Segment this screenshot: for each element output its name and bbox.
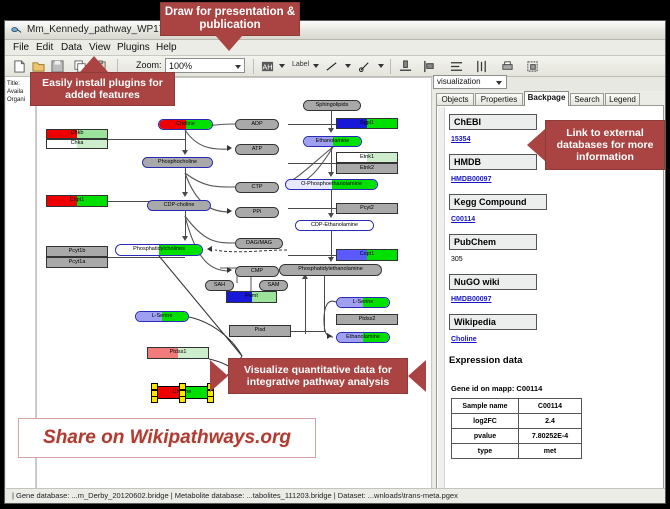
callout-links: Link to external databases for more info… [545, 120, 665, 170]
metabolite-node-cmp[interactable]: CMP [235, 266, 279, 277]
callout-plugins: Easily install plugins for added feature… [30, 72, 175, 106]
edge-chk-to-reaction [108, 139, 185, 140]
node-label: Chka [71, 141, 84, 147]
gene-node-sgpl1[interactable]: Sgpl1 [336, 118, 398, 129]
gene-node-cept1[interactable]: Cept1 [336, 249, 398, 261]
callout-visualize-text: Visualize quantitative data for integrat… [229, 364, 407, 388]
edge-phosphoethanolamine-cdpethanolamine [331, 190, 332, 214]
section-header-nugo: NuGO wiki [449, 274, 537, 290]
tab-backpage[interactable]: Backpage [524, 91, 569, 106]
metabolite-node-phosphocholine[interactable]: Phosphocholine [142, 157, 213, 168]
metabolite-node-phosphatidylethanolamine[interactable]: Phosphatidylethanolamine [279, 264, 382, 276]
node-label: SAH [214, 283, 225, 289]
distribute-horizontal-icon[interactable] [475, 60, 488, 73]
table-row: Sample name C00114 [452, 399, 582, 414]
node-label: Etnk1 [360, 155, 374, 161]
edge-pcyt2-to-reaction [288, 208, 336, 209]
cell-key: type [452, 444, 519, 459]
arrowhead-icon [328, 213, 334, 218]
metabolite-node-ppi[interactable]: PPi [235, 207, 279, 218]
node-label: Ethanolamine [316, 139, 350, 145]
gene-node-pcyt1a[interactable]: Pcyt1a [46, 257, 108, 268]
callout-plugins-pointer [80, 56, 108, 72]
node-label: O-Phosphoethanolamine [301, 182, 362, 188]
cell-value: C00114 [519, 399, 582, 414]
cell-key: log2FC [452, 414, 519, 429]
node-label: Sgpl1 [360, 121, 374, 127]
arrowhead-icon [227, 145, 232, 151]
edge-ethanolamine-phosphoethanolamine [331, 147, 332, 173]
cell-value: 2.4 [519, 414, 582, 429]
label-tool-label[interactable]: Label [292, 61, 309, 68]
gene-node-pcyt1b[interactable]: Pcyt1b [46, 246, 108, 257]
metabolite-node-sphingolipids[interactable]: Sphingolipids [303, 100, 361, 111]
callout-share-text: Share on Wikipathways.org [43, 427, 291, 449]
node-label: CDP-Ethanolamine [311, 223, 358, 229]
status-bar-text: | Gene database: ...m_Derby_20120602.bri… [12, 491, 458, 500]
node-label: CTP [252, 185, 263, 191]
wikipedia-link[interactable]: Choline [451, 336, 477, 343]
arrowhead-icon [328, 257, 334, 262]
callout-draw: Draw for presentation & publication [160, 2, 300, 36]
gene-node-ptdss2[interactable]: Ptdss2 [336, 314, 398, 325]
metabolite-node-atp[interactable]: ATP [235, 144, 279, 155]
section-header-hmdb: HMDB [449, 154, 537, 170]
node-label: PPi [253, 210, 262, 216]
table-row: pvalue 7.80252E-4 [452, 429, 582, 444]
toolbar-separator-3 [390, 59, 391, 74]
node-label: Choline [176, 122, 195, 128]
info-title-label: Title: [7, 81, 20, 87]
callout-draw-pointer [215, 35, 243, 51]
toolbar-separator-2 [253, 59, 254, 74]
gene-id-line: Gene id on mapp: C00114 [451, 384, 542, 393]
edge-cdpethanolamine-ptdethanolamine [331, 231, 332, 258]
metabolite-node-l-serine[interactable]: L-Serine [336, 297, 390, 308]
pubchem-value: 305 [451, 256, 463, 263]
metabolite-node-phosphatidylcholines[interactable]: Phosphatidylcholines [115, 244, 203, 256]
edge-pisd-to-ptdss2 [291, 331, 324, 332]
edge-sgpl1-to-reaction [288, 124, 336, 125]
node-dropdown-arrow-icon[interactable] [279, 64, 285, 68]
zoom-value: 100% [169, 61, 192, 71]
edge-pisd-up [305, 276, 306, 334]
cell-key: pvalue [452, 429, 519, 444]
metabolite-node-ethanolamine[interactable]: Ethanolamine [336, 332, 390, 343]
chebi-link[interactable]: 15354 [451, 136, 470, 143]
metabolite-node-sam[interactable]: SAM [259, 280, 288, 291]
chevron-down-icon [496, 81, 502, 85]
side-panel-tabs: Objects Properties Backpage Search Legen… [436, 91, 664, 106]
line-icon[interactable] [325, 60, 338, 73]
callout-visualize-pointer-left [210, 360, 228, 392]
section-header-pubchem: PubChem [449, 234, 537, 250]
callout-visualize: Visualize quantitative data for integrat… [228, 358, 408, 394]
node-label: DAG/MAG [246, 241, 272, 247]
gene-node-pisd[interactable]: Pisd [229, 325, 291, 337]
metabolite-node-adp[interactable]: ADP [235, 119, 279, 130]
node-label: Phosphatidylcholines [133, 247, 185, 253]
anchor-dropdown-arrow-icon[interactable] [378, 64, 384, 68]
gene-node-chkb[interactable]: Chkb [46, 129, 108, 139]
node-label: Pcyt1a [69, 260, 86, 266]
cell-value: 7.80252E-4 [519, 429, 582, 444]
callout-share: Share on Wikipathways.org [18, 418, 316, 458]
arrowhead-icon [182, 150, 188, 155]
node-label: ATP [252, 147, 262, 153]
visualization-select-value: visualization [437, 77, 481, 86]
expression-data-table: Sample name C00114 log2FC 2.4 pvalue 7.8… [451, 398, 582, 459]
menu-plugins[interactable]: Plugins [117, 42, 150, 53]
info-available-label: Availa [7, 89, 23, 95]
menu-bar: File Edit Data View Plugins Help [5, 40, 665, 56]
table-row: type met [452, 444, 582, 459]
hmdb-link[interactable]: HMDB00097 [451, 176, 491, 183]
svg-text:AH: AH [262, 62, 272, 71]
node-label: ADP [251, 122, 262, 128]
node-label: Pemt [245, 294, 258, 300]
status-bar: | Gene database: ...m_Derby_20120602.bri… [6, 488, 666, 502]
cell-key: Sample name [452, 399, 519, 414]
metabolite-node-cdp-choline[interactable]: CDP-choline [147, 200, 211, 211]
node-label: Ptdss2 [359, 317, 376, 323]
gene-node-ptdss1[interactable]: Ptdss1 [147, 347, 209, 359]
zoom-combo[interactable]: 100% [165, 58, 245, 73]
edge-choline-phosphocholine [185, 130, 186, 152]
edge-cept1-to-reaction [288, 255, 336, 256]
arrowhead-icon [327, 333, 332, 339]
new-file-icon[interactable] [13, 60, 26, 73]
node-label: Ptdss1 [170, 350, 187, 356]
menu-data[interactable]: Data [61, 42, 82, 53]
screenshot-root: Mm_Kennedy_pathway_WP1771_45176.gpml Fil… [0, 0, 670, 509]
edge-phosphocholine-cdpcholine [185, 168, 186, 193]
metabolite-node-o-phosphoethanolamine[interactable]: O-Phosphoethanolamine [285, 179, 378, 190]
selection-handle[interactable] [151, 396, 158, 403]
cell-value: met [519, 444, 582, 459]
node-label: Chpt1 [70, 198, 85, 204]
arrowhead-icon [227, 267, 232, 273]
chevron-down-icon [235, 65, 241, 69]
table-row: log2FC 2.4 [452, 414, 582, 429]
arrowhead-icon [328, 128, 334, 133]
section-header-wikipedia: Wikipedia [449, 314, 537, 330]
app-icon [11, 25, 22, 36]
gene-node-pcyt2[interactable]: Pcyt2 [336, 203, 398, 214]
zoom-label: Zoom: [136, 60, 162, 70]
nugo-link[interactable]: HMDB00097 [451, 296, 491, 303]
node-label: Chkb [71, 131, 84, 137]
backpage-scrollbar[interactable] [438, 107, 445, 500]
node-label: Etnk2 [360, 166, 374, 172]
gene-node-chka[interactable]: Chka [46, 139, 108, 149]
arrowhead-icon [227, 208, 232, 214]
text-node-icon[interactable]: AH [261, 60, 274, 73]
node-label: Phosphatidylethanolamine [298, 267, 363, 273]
gene-node-chpt1[interactable]: Chpt1 [46, 195, 108, 207]
metabolite-node-ctp[interactable]: CTP [235, 182, 279, 193]
menu-edit[interactable]: Edit [36, 42, 53, 53]
arrowhead-icon [182, 236, 188, 241]
node-label: CDP-choline [164, 203, 195, 209]
arrowhead-icon [207, 246, 212, 252]
info-organism-label: Organi [7, 97, 25, 103]
menu-view[interactable]: View [89, 42, 111, 53]
print-icon[interactable] [501, 60, 514, 73]
metabolite-node-dag-mag[interactable]: DAG/MAG [235, 238, 283, 249]
callout-links-pointer [527, 129, 545, 161]
callout-links-text: Link to external databases for more info… [546, 127, 664, 163]
visualization-select[interactable]: visualization [433, 75, 507, 89]
distribute-vertical-icon[interactable] [450, 60, 463, 73]
metabolite-node-cdp-ethanolamine[interactable]: CDP-Ethanolamine [295, 220, 374, 231]
metabolite-node-sah[interactable]: SAH [205, 280, 234, 291]
node-label: L-Serine [152, 314, 173, 320]
selection-handle[interactable] [179, 396, 186, 403]
kegg-link[interactable]: C00114 [451, 216, 475, 223]
selection-handle[interactable] [207, 396, 214, 403]
node-label: Pcyt1b [69, 249, 86, 255]
callout-plugins-text: Easily install plugins for added feature… [31, 77, 174, 101]
callout-visualize-pointer-right [408, 360, 426, 392]
arrowhead-icon [182, 192, 188, 197]
node-label: CMP [251, 269, 263, 275]
menu-help[interactable]: Help [156, 42, 177, 53]
expression-data-title: Expression data [449, 355, 522, 366]
metabolite-node-ethanolamine[interactable]: Ethanolamine [303, 136, 362, 147]
edge-cdpcholine-ptdcholine [185, 211, 186, 237]
label-dropdown-arrow-icon[interactable] [313, 64, 319, 68]
metabolite-node-choline[interactable]: Choline [158, 119, 213, 130]
node-label: Cept1 [360, 252, 375, 258]
group-icon[interactable] [526, 60, 539, 73]
node-label: Pcyt2 [360, 206, 374, 212]
menu-file[interactable]: File [13, 42, 29, 53]
metabolite-node-l-serine[interactable]: L-Serine [135, 311, 189, 322]
edge-pcyt1-to-reaction [108, 257, 185, 258]
line-dropdown-arrow-icon[interactable] [345, 64, 351, 68]
node-label: L-Serine [353, 300, 374, 306]
arrowhead-icon [328, 172, 334, 177]
section-header-chebi: ChEBI [449, 114, 537, 130]
node-label: Sphingolipids [316, 103, 349, 109]
anchor-icon[interactable] [358, 60, 371, 73]
align-bottom-icon[interactable] [399, 60, 412, 73]
align-left-icon[interactable] [423, 60, 436, 73]
edge-ptdetn-branch [324, 276, 325, 332]
title-bar: Mm_Kennedy_pathway_WP1771_45176.gpml [5, 21, 665, 40]
node-label: SAM [268, 283, 280, 289]
gene-node-etnk1[interactable]: Etnk1 [336, 152, 398, 163]
gene-node-pemt[interactable]: Pemt [226, 291, 277, 303]
edge-etnk-to-reaction [288, 163, 336, 164]
section-header-kegg: Kegg Compound [449, 194, 547, 210]
node-label: Phosphocholine [158, 160, 197, 166]
node-label: Ethanolamine [346, 335, 380, 341]
gene-node-etnk2[interactable]: Etnk2 [336, 163, 398, 174]
callout-draw-text: Draw for presentation & publication [161, 6, 299, 32]
node-label: Pisd [255, 328, 266, 334]
